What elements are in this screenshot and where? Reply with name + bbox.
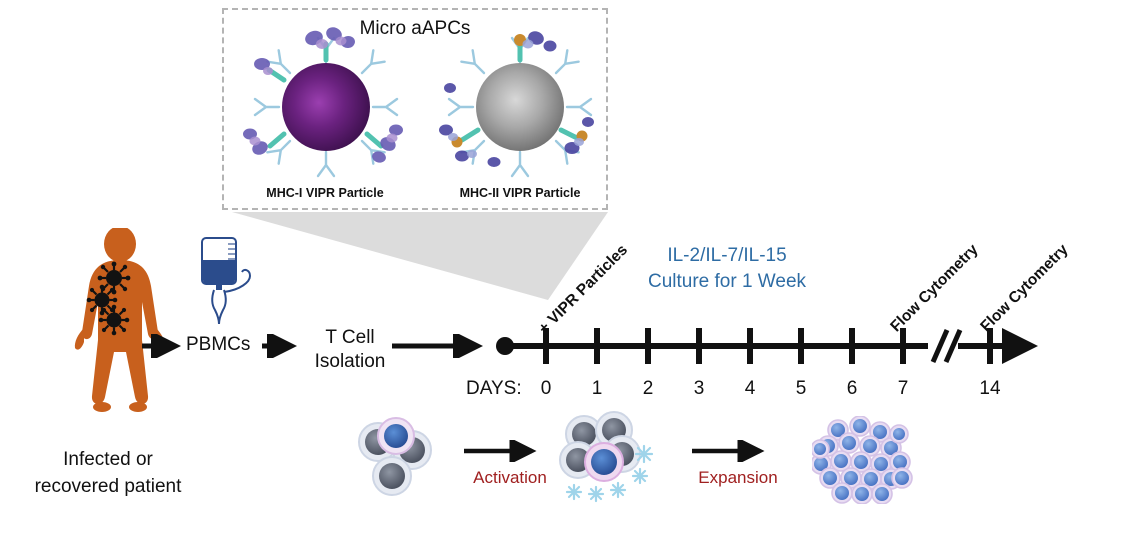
day-tick-label-4: 4	[733, 378, 767, 400]
activated-tcell-cluster-icon	[556, 410, 672, 506]
arrow-expansion	[690, 440, 774, 462]
arrow-patient-to-pbmcs	[140, 334, 186, 358]
day-tick-label-6: 6	[835, 378, 869, 400]
blood-bag-icon	[194, 234, 256, 326]
patient-caption-line2: recovered patient	[8, 473, 208, 500]
day-tick-label-3: 3	[682, 378, 716, 400]
day-tick-label-7: 7	[886, 378, 920, 400]
expansion-label: Expansion	[686, 468, 790, 488]
culture-line1: IL-2/IL-7/IL-15	[637, 243, 817, 269]
patient-caption-line1: Infected or	[8, 446, 208, 473]
cytokine-culture-label: IL-2/IL-7/IL-15 Culture for 1 Week	[637, 243, 817, 295]
day-tick-label-1: 1	[580, 378, 614, 400]
tcell-isolation-label: T Cell Isolation	[300, 326, 400, 374]
mhc-i-particle-graphic	[236, 26, 416, 188]
mhc-ii-particle-graphic	[432, 26, 608, 188]
day-tick-label-0: 0	[529, 378, 563, 400]
expanded-tcell-cluster-icon	[812, 416, 920, 504]
tcell-label-line1: T Cell	[300, 326, 400, 350]
patient-caption: Infected or recovered patient	[8, 446, 208, 500]
mhc-i-label: MHC-I VIPR Particle	[240, 186, 410, 200]
mhc-ii-label: MHC-II VIPR Particle	[432, 186, 608, 200]
arrow-activation	[462, 440, 546, 462]
activation-label: Activation	[458, 468, 562, 488]
days-label: DAYS:	[466, 378, 522, 400]
arrow-tcell-to-timeline	[390, 334, 488, 358]
day-tick-label-2: 2	[631, 378, 665, 400]
day-tick-label-5: 5	[784, 378, 818, 400]
culture-line2: Culture for 1 Week	[637, 269, 817, 295]
timeline-axis	[490, 318, 1060, 378]
day-tick-label-14: 14	[973, 378, 1007, 400]
resting-tcell-cluster-icon	[348, 414, 444, 504]
pbmcs-label: PBMCs	[186, 334, 250, 356]
tcell-label-line2: Isolation	[300, 350, 400, 374]
patient-silhouette-icon	[62, 228, 182, 413]
arrow-pbmcs-to-tcell	[260, 334, 302, 358]
diagram-canvas: Micro aAPCs	[0, 0, 1126, 546]
